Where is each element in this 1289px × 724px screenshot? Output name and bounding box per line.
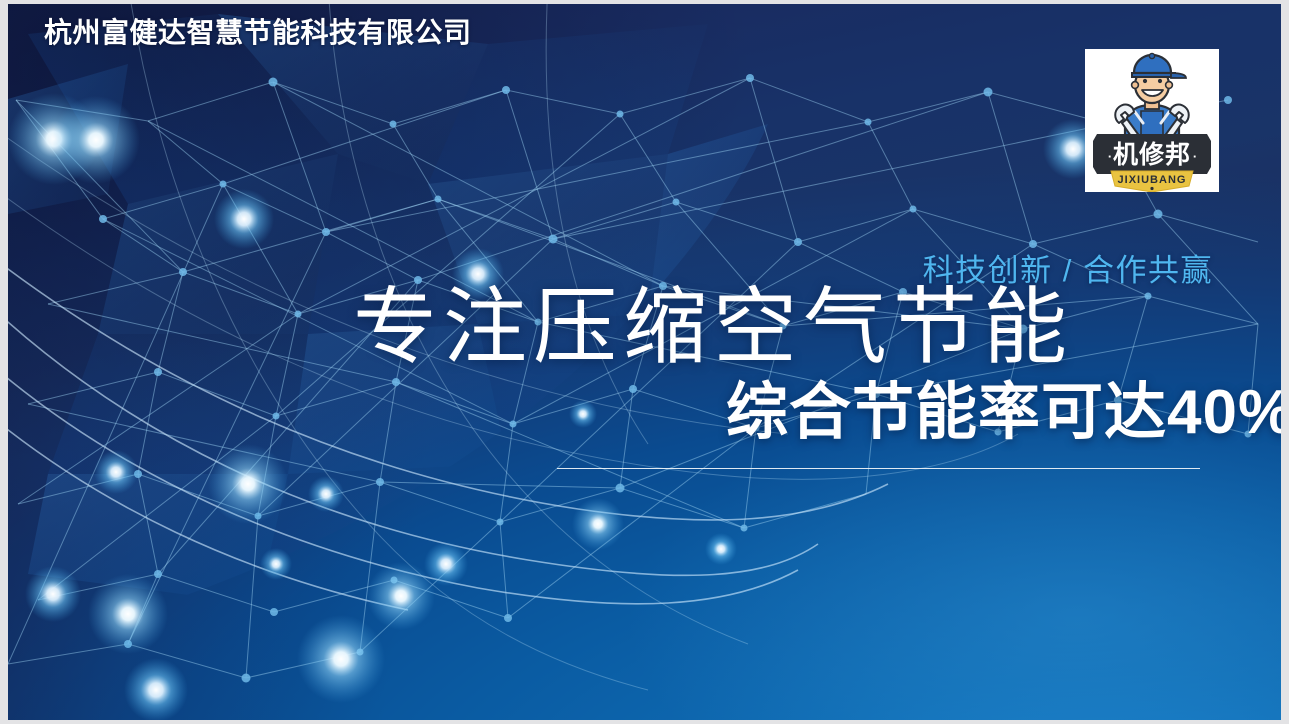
company-name: 杭州富健达智慧节能科技有限公司 [44,11,472,51]
brand-logo[interactable]: · 机修邦 · JIXIUBANG [1085,49,1219,192]
logo-brand-en: JIXIUBANG [1118,174,1187,186]
artwork-canvas: 杭州富健达智慧节能科技有限公司 科技创新 / 合作共赢 专注压缩空气节能 综合节… [8,4,1281,720]
headline-secondary: 综合节能率可达40% [726,382,1281,444]
jixiubang-logo-graphic: · 机修邦 · JIXIUBANG [1085,49,1219,192]
ribbon-dot-icon [1150,187,1153,190]
banner-dot-left: · [1108,149,1112,164]
headline-primary: 专注压缩空气节能 [353,287,1073,371]
logo-brand-cn: 机修邦 [1113,140,1191,169]
slide-canvas: 杭州富健达智慧节能科技有限公司 科技创新 / 合作共赢 专注压缩空气节能 综合节… [0,0,1289,724]
banner-dot-right: · [1193,149,1197,164]
headline-divider [557,468,1200,469]
